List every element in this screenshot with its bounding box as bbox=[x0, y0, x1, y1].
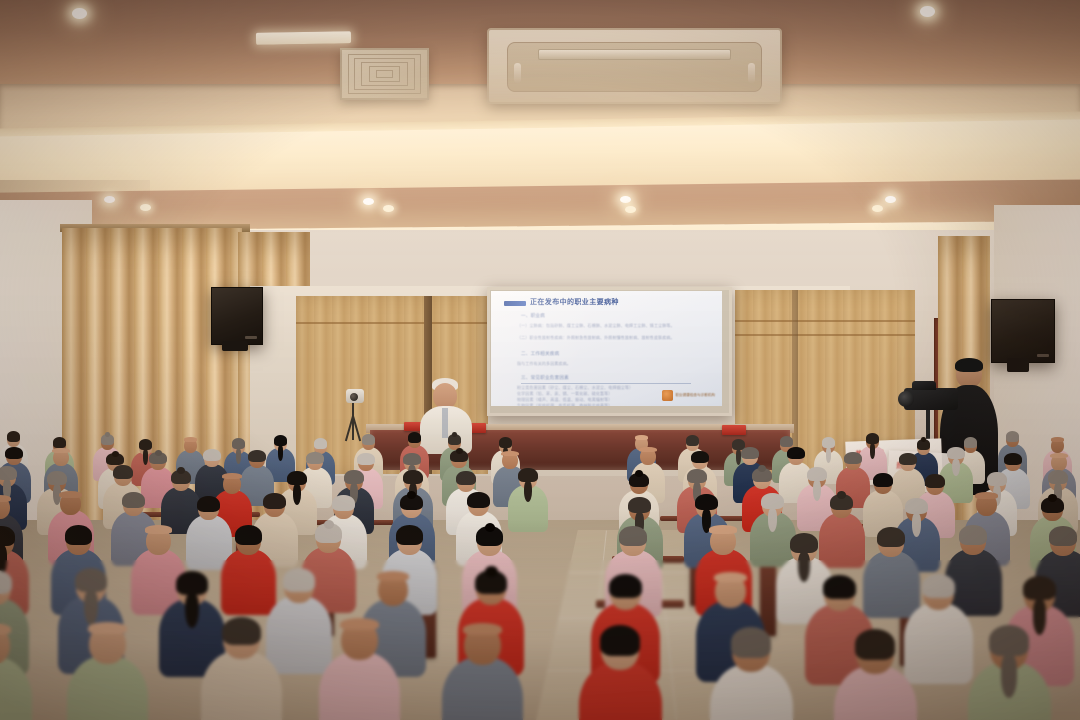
audience-hair bbox=[59, 491, 81, 498]
videographer-hair bbox=[955, 358, 983, 372]
audience-hair bbox=[7, 431, 21, 442]
audience-hair bbox=[139, 439, 153, 450]
audience-hair bbox=[787, 447, 804, 459]
slide-title-accent-bar bbox=[504, 301, 526, 306]
audience-hair bbox=[731, 627, 772, 657]
name-plate bbox=[722, 425, 746, 435]
projection-screen[interactable]: 正在发布中的职业主要病种 一、职业病 （一）尘肺病：包括矽肺、煤工尘肺、石棉肺、… bbox=[491, 291, 722, 406]
audience-hair-bun bbox=[112, 451, 119, 457]
audience-hair bbox=[714, 572, 747, 582]
slide-heading-3: 三、常见职业危害因素 bbox=[521, 375, 569, 381]
audience-hair bbox=[0, 466, 17, 480]
audience-hair bbox=[184, 437, 198, 442]
audience-hair bbox=[600, 625, 641, 655]
slide-line: （二）职业性放射性疾病：外照射急性放射病、外照射慢性放射病、放射性皮肤疾病。 bbox=[517, 335, 675, 341]
audience-hair bbox=[790, 533, 818, 553]
ac-louver bbox=[514, 63, 521, 83]
slide-line: 生物因素（炭疽杆菌、布氏杆菌、森林脑炎病毒等） bbox=[517, 403, 612, 406]
audience-hair bbox=[0, 526, 15, 546]
audience-hair-bun bbox=[1048, 494, 1057, 502]
audience-hair bbox=[306, 452, 323, 464]
audience-hair bbox=[222, 617, 261, 646]
audience-hair bbox=[5, 447, 22, 459]
recessed-downlight bbox=[383, 205, 394, 212]
audience-hair bbox=[122, 492, 144, 509]
audience-hair bbox=[628, 497, 650, 514]
audience-hair bbox=[709, 525, 737, 533]
recessed-downlight bbox=[625, 206, 636, 213]
audience-hair bbox=[899, 453, 916, 465]
video-camera-lens bbox=[898, 391, 914, 407]
audience-hair bbox=[283, 568, 315, 592]
slide-footer-logo: 职业健康检查与诊断机构 bbox=[662, 390, 715, 401]
audience-ponytail bbox=[952, 459, 959, 477]
audience-hair bbox=[822, 437, 836, 448]
audience-hair bbox=[456, 471, 475, 485]
audience-hair bbox=[65, 525, 92, 545]
air-conditioner-unit bbox=[487, 28, 782, 104]
audience-hair-bun bbox=[456, 448, 463, 454]
audience-hair bbox=[501, 451, 518, 456]
recessed-downlight bbox=[920, 6, 935, 17]
audience-hair bbox=[52, 448, 69, 453]
conference-hall-photo: 正在发布中的职业主要病种 一、职业病 （一）尘肺病：包括矽肺、煤工尘肺、石棉肺、… bbox=[0, 0, 1080, 720]
audience-hair bbox=[232, 438, 246, 449]
recessed-downlight bbox=[363, 198, 374, 205]
speaker-bracket bbox=[222, 341, 248, 351]
audience-hair bbox=[362, 434, 376, 445]
ceiling-strip-light bbox=[256, 31, 351, 45]
presenter-tie bbox=[442, 408, 448, 438]
audience-hair bbox=[53, 437, 67, 448]
audience-hair bbox=[1051, 437, 1065, 442]
audience-hair bbox=[287, 471, 306, 485]
recessed-downlight bbox=[72, 8, 87, 19]
slide-line: 指与工作有关的多因素疾病。 bbox=[517, 361, 571, 367]
air-conditioner-panel bbox=[507, 42, 762, 92]
audience-hair bbox=[873, 473, 892, 487]
audience-hair-bun bbox=[407, 491, 416, 499]
audience-hair bbox=[88, 622, 127, 634]
audience-hair bbox=[176, 571, 208, 595]
audience-hair bbox=[855, 629, 896, 659]
institution-logo-icon bbox=[662, 390, 673, 401]
audience-hair bbox=[844, 452, 861, 464]
audience-hair bbox=[947, 447, 964, 459]
video-camera-viewfinder bbox=[912, 381, 936, 390]
audience-hair bbox=[47, 471, 66, 485]
audience-hair bbox=[761, 493, 783, 510]
recessed-downlight bbox=[620, 196, 631, 203]
audience-hair bbox=[964, 437, 978, 448]
audience-torso bbox=[904, 603, 973, 684]
audience-hair bbox=[467, 492, 489, 509]
audience-ponytail bbox=[798, 552, 809, 581]
audience-hair bbox=[203, 449, 220, 461]
audience-hair bbox=[922, 574, 955, 598]
audience-hair bbox=[619, 526, 647, 546]
audience-torso bbox=[863, 551, 920, 618]
audience-hair bbox=[866, 433, 880, 444]
audience-hair bbox=[344, 470, 363, 484]
audience-hair bbox=[687, 469, 706, 483]
audience-hair bbox=[1004, 453, 1021, 465]
ceiling-vent-diffuser bbox=[340, 48, 429, 100]
audience-hair bbox=[377, 571, 409, 581]
recessed-downlight bbox=[885, 196, 896, 203]
audience-hair bbox=[1006, 431, 1020, 442]
audience-hair bbox=[1050, 453, 1067, 458]
slide-title: 正在发布中的职业主要病种 bbox=[530, 297, 619, 307]
audience-hair bbox=[925, 474, 944, 488]
audience-hair bbox=[463, 623, 502, 635]
audience-hair bbox=[780, 436, 794, 447]
slide-footer-logo-text: 职业健康检查与诊断机构 bbox=[675, 393, 715, 398]
audience-hair bbox=[408, 432, 422, 443]
audience-ponytail bbox=[185, 593, 198, 628]
audience-hair bbox=[975, 492, 997, 499]
audience-hair bbox=[989, 625, 1030, 655]
audience-hair bbox=[274, 435, 288, 446]
speaker-bracket bbox=[1007, 358, 1029, 372]
audience-hair bbox=[357, 453, 374, 465]
audience-hair bbox=[959, 525, 987, 545]
audience-hair bbox=[987, 472, 1006, 486]
slide-line: （一）尘肺病：包括矽肺、煤工尘肺、石棉肺、水泥尘肺、电焊工尘肺、铸工尘肺等。 bbox=[517, 323, 675, 329]
audience-hair bbox=[807, 467, 826, 481]
audience-torso bbox=[819, 513, 865, 568]
audience-torso bbox=[201, 651, 282, 720]
recessed-downlight bbox=[872, 205, 883, 212]
audience-hair bbox=[314, 438, 328, 449]
audience-hair bbox=[877, 527, 905, 547]
audience-hair bbox=[695, 494, 717, 511]
audience-hair bbox=[639, 447, 656, 452]
audience-torso bbox=[319, 652, 400, 720]
audience-torso bbox=[67, 656, 148, 720]
audience-hair bbox=[396, 525, 423, 545]
audience-hair bbox=[113, 465, 132, 479]
audience-hair bbox=[1048, 470, 1067, 484]
audience-ponytail bbox=[84, 590, 97, 625]
slide-heading-2: 二、工作相关疾病 bbox=[521, 351, 559, 357]
audience-torso bbox=[221, 549, 276, 615]
audience-hair bbox=[248, 450, 265, 462]
audience-hair bbox=[197, 496, 219, 513]
audience-hair bbox=[905, 498, 927, 515]
audience-hair bbox=[332, 495, 354, 512]
wall-speaker-right bbox=[991, 299, 1055, 363]
audience-torso bbox=[442, 657, 523, 720]
audience-hair-bun bbox=[155, 450, 162, 456]
audience-hair bbox=[1023, 576, 1056, 600]
audience-hair bbox=[635, 435, 649, 440]
audience-hair bbox=[518, 468, 537, 482]
audience-hair bbox=[235, 525, 262, 545]
wall-speaker-left bbox=[211, 287, 263, 345]
ac-louver bbox=[748, 63, 755, 83]
audience-hair bbox=[145, 525, 172, 533]
audience-hair bbox=[340, 618, 379, 630]
audience-torso bbox=[266, 596, 332, 674]
audience-hair bbox=[263, 493, 285, 510]
audience-hair bbox=[1049, 526, 1077, 546]
audience-hair bbox=[609, 574, 642, 598]
tripod-camera-lens bbox=[350, 393, 358, 401]
audience-hair bbox=[741, 447, 758, 459]
slide-heading-1: 一、职业病 bbox=[521, 313, 545, 319]
audience-hair bbox=[691, 451, 708, 463]
audience-ponytail bbox=[1033, 599, 1047, 635]
audience-hair bbox=[222, 473, 241, 479]
audience-hair bbox=[403, 453, 420, 465]
audience-hair-bun bbox=[485, 566, 498, 577]
audience-hair bbox=[686, 435, 700, 446]
audience-hair bbox=[823, 575, 856, 599]
air-conditioner-grille bbox=[538, 49, 731, 60]
audience-hair bbox=[499, 437, 513, 448]
audience-hair-bun bbox=[837, 491, 846, 499]
audience-hair bbox=[0, 495, 11, 502]
audience-hair bbox=[403, 470, 422, 484]
audience-hair bbox=[75, 568, 107, 592]
